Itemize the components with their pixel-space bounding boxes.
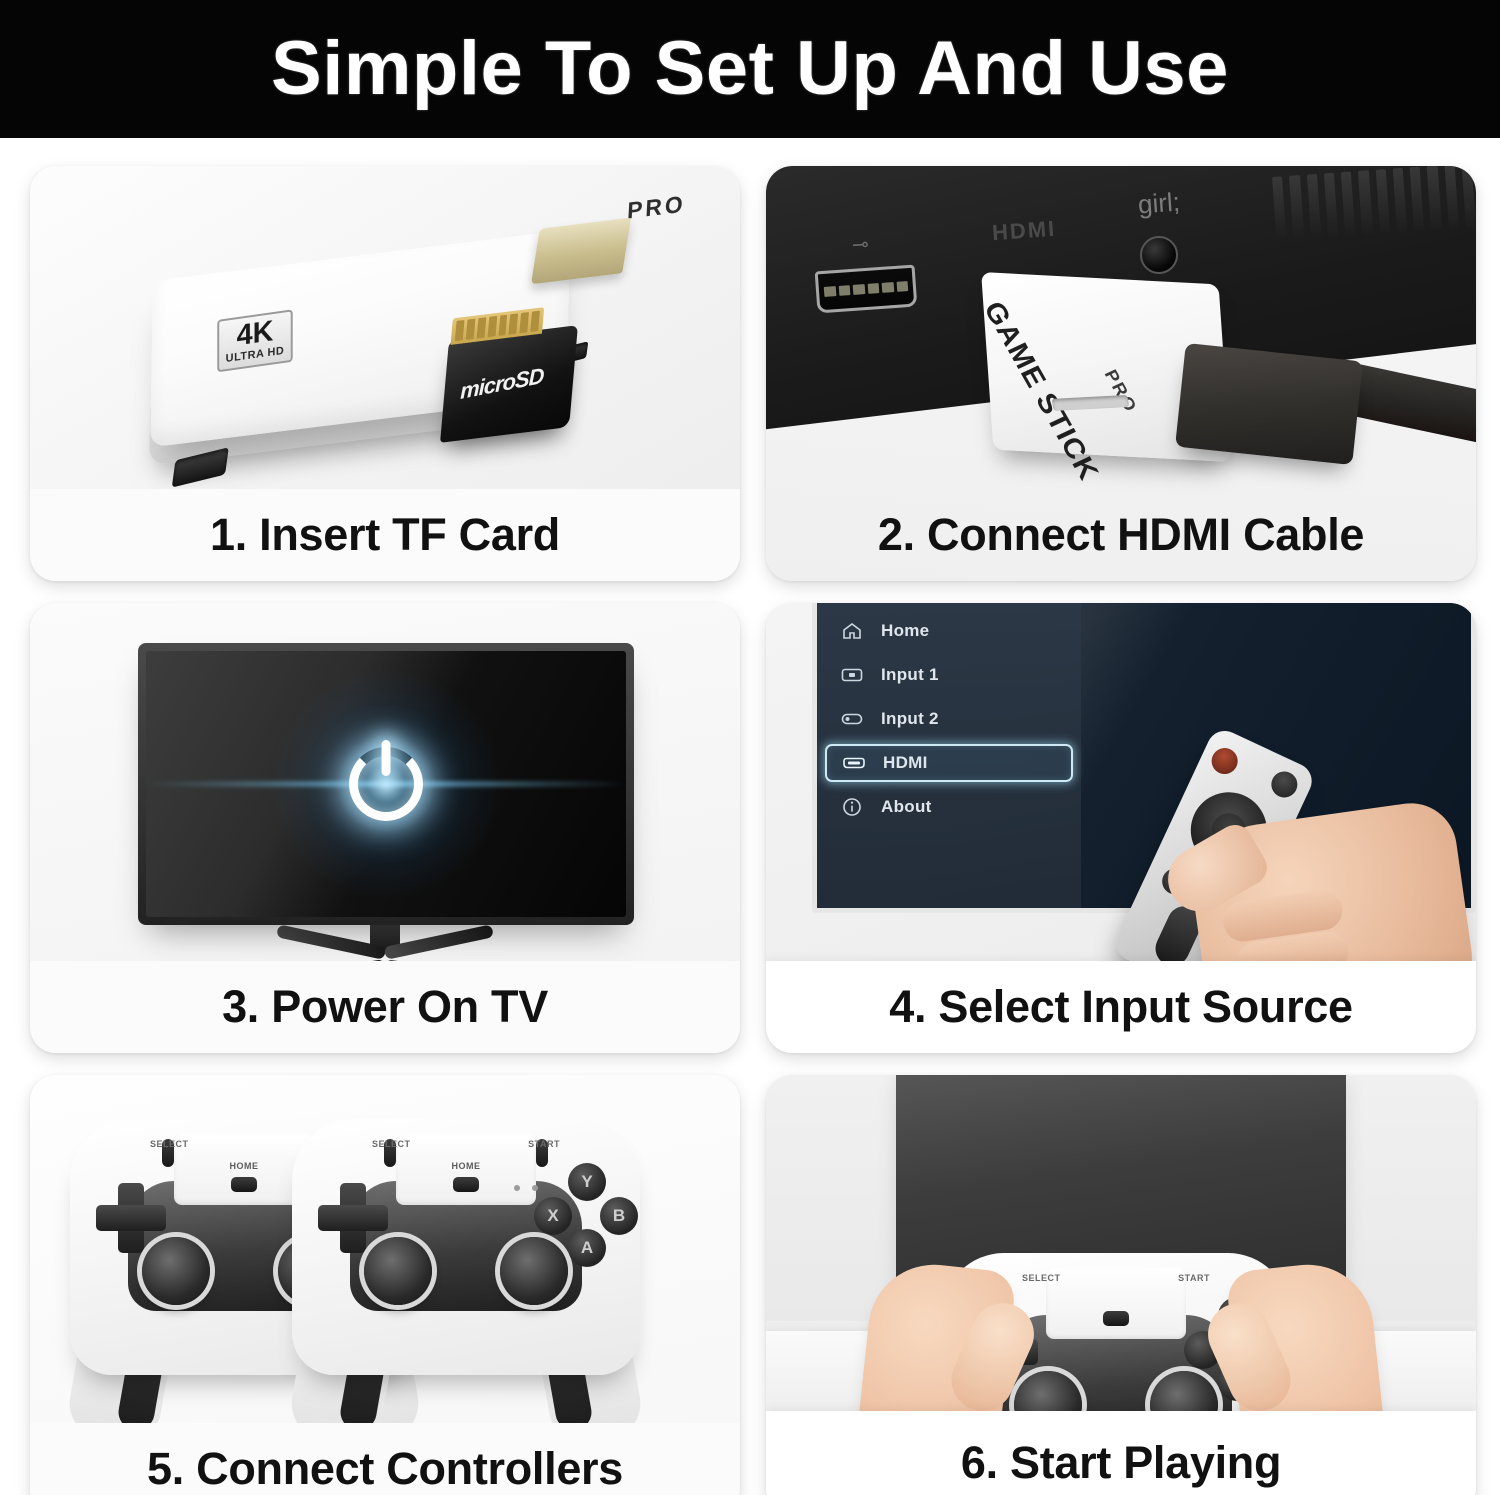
home-icon [839, 622, 865, 641]
remote-menu-button[interactable] [1267, 767, 1302, 802]
home-label: HOME [452, 1161, 481, 1171]
face-button-y: Y [568, 1163, 606, 1201]
start-label: START [528, 1139, 560, 1149]
gamepad-touchpad: SELECT START HOME [396, 1133, 536, 1205]
menu-item-label: HDMI [883, 753, 928, 773]
step-card-power-on-tv[interactable]: 3. Power On TV [30, 603, 740, 1053]
menu-item-home[interactable]: Home [825, 612, 1073, 650]
power-symbol-bar [382, 740, 391, 776]
tv-hdmi-port [815, 265, 918, 314]
menu-item-label: Input 2 [881, 709, 939, 729]
game-stick-card-slot [1052, 395, 1130, 411]
analog-stick-left [142, 1237, 210, 1305]
television [138, 643, 634, 925]
step-2-caption: 2. Connect HDMI Cable [766, 489, 1476, 581]
menu-item-label: Input 1 [881, 665, 939, 685]
menu-item-label: About [881, 797, 932, 817]
face-button-b: B [600, 1197, 638, 1235]
home-button [1103, 1311, 1129, 1326]
step-card-connect-hdmi-cable[interactable]: HDMI ⊸ girl; GAME STICK PRO 2. Connect H… [766, 166, 1476, 581]
headphone-icon: girl; [1137, 187, 1181, 221]
microsd-card: microSD [440, 325, 578, 443]
game-stick-pro-label: PRO [1100, 367, 1142, 417]
input-source-menu[interactable]: Home Input 1 [817, 603, 1081, 908]
tv-vent-grille [1272, 166, 1476, 241]
4k-badge: 4K ULTRA HD [217, 309, 292, 372]
step-6-caption: 6. Start Playing [766, 1411, 1476, 1495]
tv-screen [146, 651, 626, 917]
gamepad-touchpad: SELECT START [1046, 1267, 1186, 1339]
step-4-caption: 4. Select Input Source [766, 961, 1476, 1053]
step-card-select-input-source[interactable]: Home Input 1 [766, 603, 1476, 1053]
menu-item-hdmi[interactable]: HDMI [825, 744, 1073, 782]
face-button-a: A [568, 1229, 606, 1267]
step-3-caption: 3. Power On TV [30, 961, 740, 1053]
microsd-label: microSD [460, 363, 544, 405]
menu-item-input-1[interactable]: Input 1 [825, 656, 1073, 694]
info-icon [839, 798, 865, 817]
remote-power-button[interactable] [1207, 744, 1242, 779]
menu-item-input-2[interactable]: Input 2 [825, 700, 1073, 738]
page-header: Simple To Set Up And Use [0, 0, 1500, 138]
menu-item-about[interactable]: About [825, 788, 1073, 826]
home-label: HOME [230, 1161, 259, 1171]
steps-grid: 4K ULTRA HD PRO microSD 1. Insert TF Car… [0, 138, 1500, 1495]
home-button [231, 1177, 257, 1192]
face-button-cluster: Y X B A [538, 1171, 634, 1267]
power-symbol-icon [349, 747, 423, 821]
analog-stick-left [364, 1237, 432, 1305]
step-card-start-playing[interactable]: SELECT START 6. Start Playin [766, 1075, 1476, 1495]
hdmi-icon [841, 754, 867, 773]
page-title: Simple To Set Up And Use [271, 31, 1229, 107]
home-button [453, 1177, 479, 1192]
select-label: SELECT [150, 1139, 189, 1149]
face-button-x: X [534, 1197, 572, 1235]
select-label: SELECT [372, 1139, 411, 1149]
hdmi-cable-plug [1175, 343, 1363, 465]
headphone-jack [1139, 235, 1180, 276]
badge-ultra-hd-text: ULTRA HD [226, 345, 285, 365]
step-card-insert-tf-card[interactable]: 4K ULTRA HD PRO microSD 1. Insert TF Car… [30, 166, 740, 581]
step-card-connect-controllers[interactable]: SELECT START HOME [30, 1075, 740, 1495]
gamepad-body: SELECT START HOME Y X B A [292, 1119, 640, 1375]
step-5-caption: 5. Connect Controllers [30, 1423, 740, 1495]
menu-item-label: Home [881, 621, 929, 641]
tv-hdmi-port-label: HDMI [991, 216, 1057, 246]
select-label: SELECT [1022, 1273, 1061, 1283]
gamepad-right: SELECT START HOME Y X B A [292, 1119, 640, 1375]
usb-icon: ⊸ [851, 231, 869, 257]
input1-icon [839, 666, 865, 685]
start-label: START [1178, 1273, 1210, 1283]
status-leds [514, 1185, 538, 1191]
input2-icon [839, 710, 865, 729]
step-1-caption: 1. Insert TF Card [30, 489, 740, 581]
